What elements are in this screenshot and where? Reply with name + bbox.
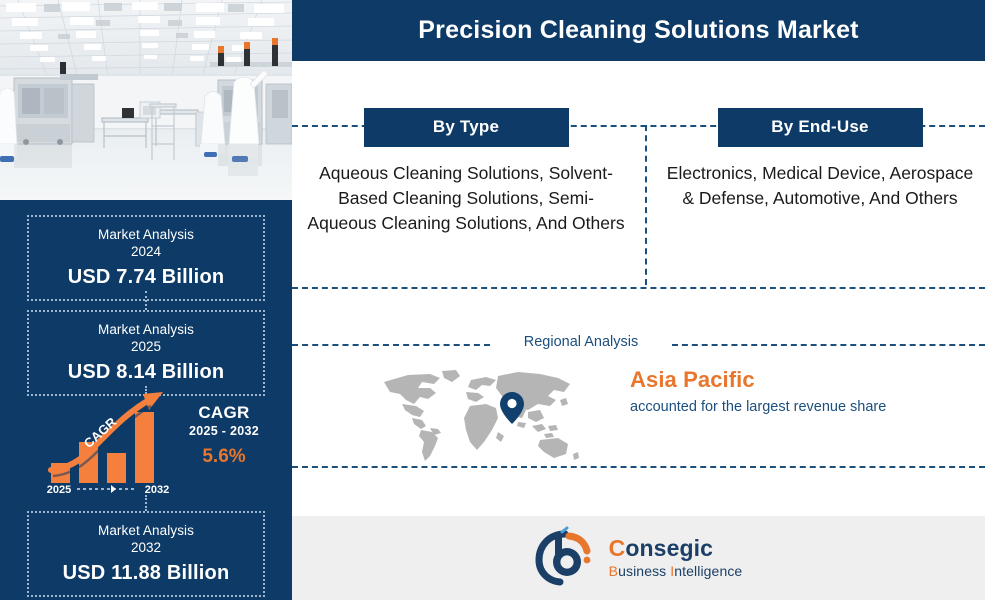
metric-card-2025: Market Analysis 2025 USD 8.14 Billion bbox=[27, 310, 265, 396]
world-map-icon bbox=[378, 366, 583, 464]
cagr-section: CAGR 2025 2032 CAGR 2025 - 2032 5.6% bbox=[27, 390, 265, 495]
segmentation-divider bbox=[645, 125, 647, 285]
segment-heading: By Type bbox=[364, 108, 569, 147]
title-bar: Precision Cleaning Solutions Market bbox=[292, 0, 985, 61]
metric-card-2024: Market Analysis 2024 USD 7.74 Billion bbox=[27, 215, 265, 301]
brand-name: Consegic bbox=[609, 535, 743, 562]
brand-initial: C bbox=[609, 535, 626, 561]
regional-description: accounted for the largest revenue share bbox=[630, 394, 960, 417]
connector-line-1 bbox=[145, 291, 147, 310]
tagline-ntelligence: ntelligence bbox=[674, 563, 742, 579]
regional-divider-right bbox=[672, 344, 985, 346]
main-content: Precision Cleaning Solutions Market By T… bbox=[292, 0, 985, 600]
segment-by-end-use: By End-Use Electronics, Medical Device, … bbox=[660, 108, 980, 211]
brand-tagline: Business Intelligence bbox=[609, 562, 743, 581]
metric-card-2032: Market Analysis 2032 USD 11.88 Billion bbox=[27, 511, 265, 597]
page-title: Precision Cleaning Solutions Market bbox=[418, 16, 858, 45]
metric-label: Market Analysis bbox=[29, 513, 263, 539]
cleanroom-facility-photo bbox=[0, 0, 292, 205]
brand-logo: Consegic Business Intelligence bbox=[535, 526, 743, 591]
segment-heading: By End-Use bbox=[718, 108, 923, 147]
cagr-title: CAGR bbox=[179, 402, 269, 423]
connector-line-3 bbox=[145, 495, 147, 511]
cagr-range: 2025 - 2032 bbox=[179, 423, 269, 440]
tagline-b: B bbox=[609, 563, 618, 579]
regional-bottom-divider bbox=[292, 466, 985, 468]
metric-label: Market Analysis bbox=[29, 217, 263, 243]
tagline-usiness: usiness bbox=[618, 563, 670, 579]
metric-year: 2032 bbox=[29, 539, 263, 556]
consegic-b-logo-icon bbox=[535, 526, 599, 591]
metric-year: 2025 bbox=[29, 338, 263, 355]
metric-value: USD 11.88 Billion bbox=[29, 556, 263, 595]
infographic-canvas: Market Analysis 2024 USD 7.74 Billion Ma… bbox=[0, 0, 985, 600]
axis-start-label: 2025 bbox=[47, 484, 71, 495]
segment-body: Electronics, Medical Device, Aerospace &… bbox=[660, 147, 980, 211]
cagr-text-block: CAGR 2025 - 2032 5.6% bbox=[179, 402, 269, 470]
footer-bar: Consegic Business Intelligence bbox=[292, 516, 985, 600]
growth-bar-chart-icon: CAGR 2025 2032 bbox=[45, 390, 177, 495]
regional-divider-left bbox=[292, 344, 490, 346]
regional-region-name: Asia Pacific bbox=[630, 366, 960, 394]
segment-by-type: By Type Aqueous Cleaning Solutions, Solv… bbox=[306, 108, 626, 236]
cagr-chart-label: CAGR bbox=[81, 414, 120, 451]
metric-label: Market Analysis bbox=[29, 312, 263, 338]
brand-rest: onsegic bbox=[625, 535, 713, 561]
regional-analysis-label: Regional Analysis bbox=[490, 334, 672, 350]
regional-text-block: Asia Pacific accounted for the largest r… bbox=[630, 366, 960, 417]
axis-end-label: 2032 bbox=[145, 484, 169, 495]
left-sidebar: Market Analysis 2024 USD 7.74 Billion Ma… bbox=[0, 0, 292, 600]
segment-body: Aqueous Cleaning Solutions, Solvent-Base… bbox=[306, 147, 626, 236]
metric-year: 2024 bbox=[29, 243, 263, 260]
brand-text: Consegic Business Intelligence bbox=[609, 535, 743, 581]
cagr-percent: 5.6% bbox=[179, 440, 269, 470]
location-pin-icon bbox=[500, 392, 524, 424]
photo-bottom-border bbox=[0, 200, 292, 206]
